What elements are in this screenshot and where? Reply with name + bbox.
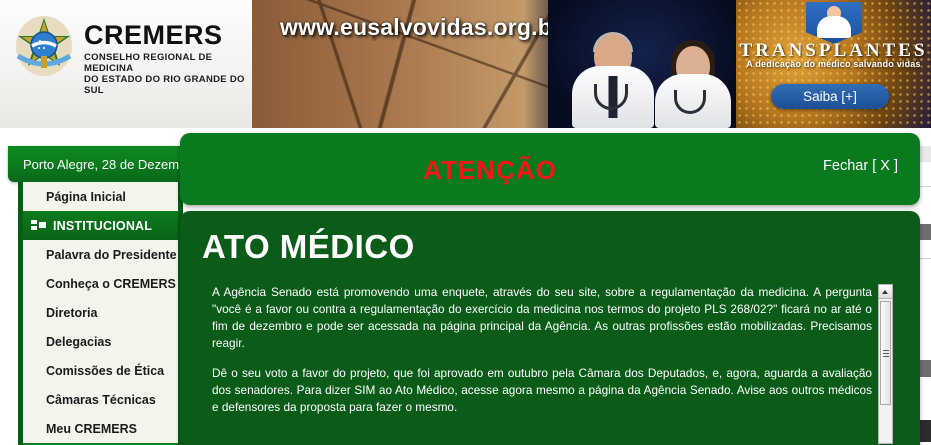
modal-paragraph-2: Dê o seu voto a favor do projeto, que fo… — [212, 365, 872, 416]
site-header: CREMERS CONSELHO REGIONAL DE MEDICINA DO… — [0, 0, 931, 128]
brand-subtitle-line-1: CONSELHO REGIONAL DE MEDICINA — [84, 52, 252, 74]
sidebar-item-comissoes-de-etica[interactable]: Comissões de Ética — [23, 356, 178, 385]
female-doctor-figure — [652, 24, 734, 128]
saiba-mais-button[interactable]: Saiba [+] — [771, 84, 889, 109]
sidebar-item-institucional[interactable]: INSTITUCIONAL — [23, 211, 178, 240]
modal-paragraph-1: A Agência Senado está promovendo uma enq… — [212, 284, 872, 352]
page-root: CREMERS CONSELHO REGIONAL DE MEDICINA DO… — [0, 0, 931, 445]
alert-modal-body: ATO MÉDICO A Agência Senado está promove… — [180, 211, 920, 445]
sidebar-item-label: INSTITUCIONAL — [53, 219, 152, 233]
scrollbar-grip-icon — [883, 350, 889, 351]
doctors-photo — [548, 0, 736, 128]
scroll-up-arrow-icon[interactable] — [879, 285, 892, 299]
section-bullet-icon — [31, 220, 46, 231]
sidebar-item-pagina-inicial[interactable]: Página Inicial — [23, 182, 178, 211]
brazil-coat-of-arms-icon — [10, 12, 78, 80]
modal-heading: ATO MÉDICO — [202, 228, 415, 266]
sidebar-menu: Página Inicial INSTITUCIONAL Palavra do … — [18, 182, 183, 445]
alert-modal-header: ATENÇÃO Fechar [ X ] — [180, 133, 920, 205]
sidebar-item-meu-cremers[interactable]: Meu CREMERS — [23, 414, 178, 443]
brand-subtitle-line-2: DO ESTADO DO RIO GRANDE DO SUL — [84, 74, 252, 96]
sidebar-item-delegacias[interactable]: Delegacias — [23, 327, 178, 356]
modal-scrollbar[interactable] — [878, 284, 893, 444]
banner-url-text: www.eusalvovidas.org.br — [280, 14, 561, 41]
sidebar-item-diretoria[interactable]: Diretoria — [23, 298, 178, 327]
modal-text-content: A Agência Senado está promovendo uma enq… — [212, 284, 872, 429]
transplant-promo[interactable]: TRANSPLANTES A dedicação do médico salva… — [736, 0, 931, 128]
close-modal-button[interactable]: Fechar [ X ] — [823, 158, 898, 174]
promo-banner[interactable]: www.eusalvovidas.org.br TRANSPLANTES A d… — [252, 0, 931, 128]
transplant-subtitle: A dedicação do médico salvando vidas — [736, 59, 931, 69]
scrollbar-thumb[interactable] — [880, 301, 891, 405]
sidebar-item-camaras-tecnicas[interactable]: Câmaras Técnicas — [23, 385, 178, 414]
brand-area: CREMERS CONSELHO REGIONAL DE MEDICINA DO… — [0, 0, 252, 128]
sidebar-item-palavra-do-presidente[interactable]: Palavra do Presidente — [23, 240, 178, 269]
brand-subtitle: CONSELHO REGIONAL DE MEDICINA DO ESTADO … — [84, 52, 252, 96]
sidebar-item-conheca-o-cremers[interactable]: Conheça o CREMERS — [23, 269, 178, 298]
alert-title: ATENÇÃO — [60, 155, 920, 186]
brand-title: CREMERS — [84, 20, 223, 51]
male-doctor-figure — [570, 20, 656, 128]
